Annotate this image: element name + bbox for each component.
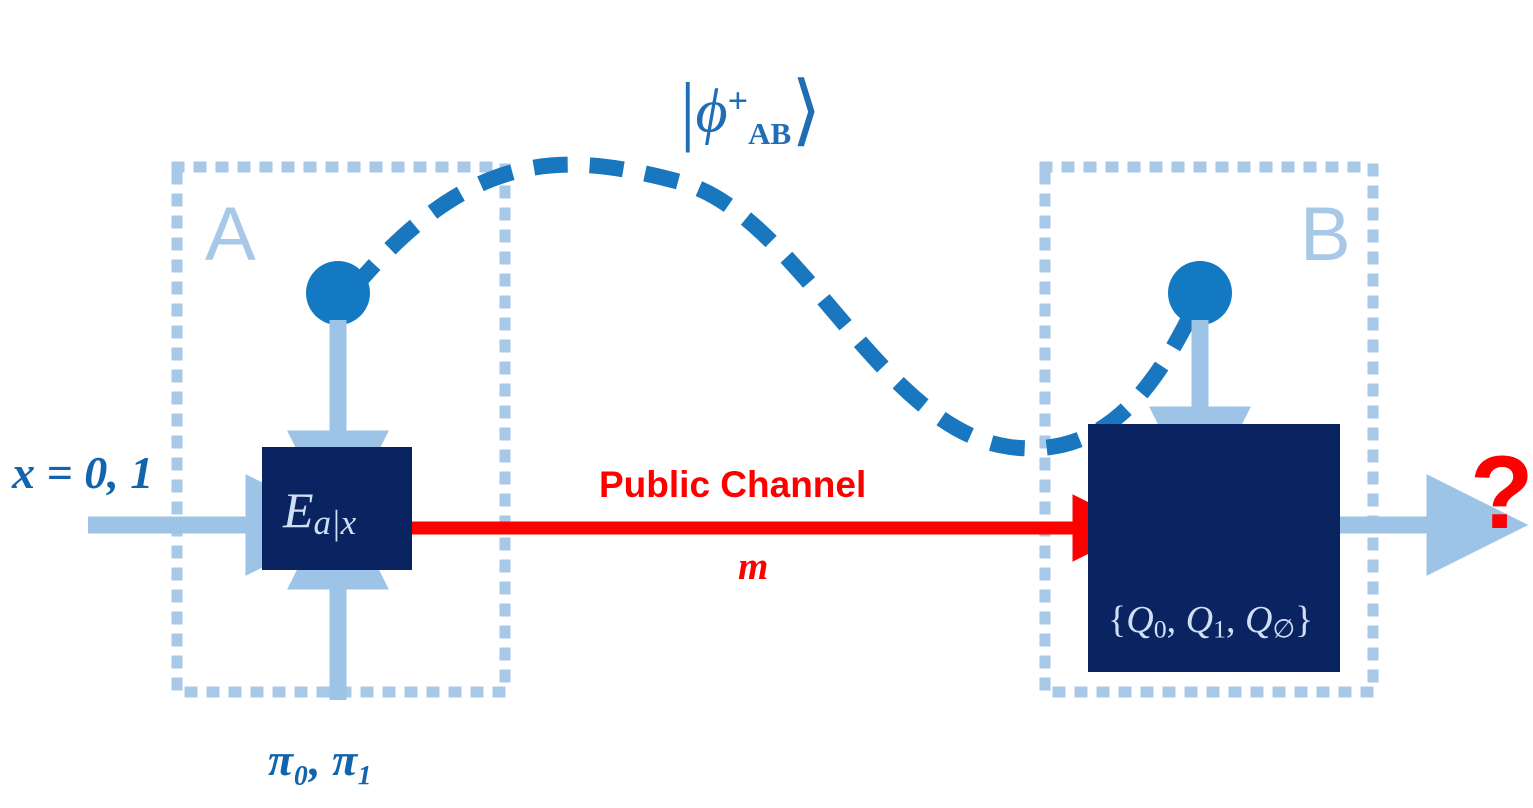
ket-close-bracket: ⟩ — [791, 67, 821, 153]
alice-encoding-label: Ea|x — [283, 485, 356, 540]
prior-distribution-label: π₀, π₁ — [268, 737, 373, 783]
entanglement-curve — [352, 165, 1198, 449]
ket-superscript: + — [728, 81, 749, 121]
bob-qubit-node — [1168, 261, 1232, 325]
encoding-subscript: a|x — [314, 503, 357, 542]
povm-item-1: Q — [1186, 599, 1213, 641]
public-channel-title: Public Channel — [599, 466, 866, 503]
povm-item-2: Q — [1245, 599, 1272, 641]
channel-message-label: m — [738, 547, 768, 586]
bob-povm-label: {{Q₀, Q₁, Q∅}Q0, Q1, Q∅} — [1108, 601, 1313, 643]
povm-open-brace: { — [1108, 599, 1126, 641]
ket-bar: | — [680, 67, 696, 153]
region-b-label: B — [1300, 197, 1351, 273]
povm-item-0: Q — [1126, 599, 1153, 641]
input-x-full: x = 0, 1 — [12, 447, 153, 498]
alice-qubit-node — [306, 261, 370, 325]
unknown-output-label: ? — [1470, 441, 1533, 545]
region-a-label: A — [205, 197, 256, 273]
input-x-label: x = 0, 1 — [12, 450, 153, 496]
prior-pi-full: π₀, π₁ — [268, 734, 373, 785]
ket-subscript: AB — [748, 116, 791, 151]
encoding-E: E — [283, 482, 314, 538]
diagram-canvas: A B |ϕ+AB⟩ x = 0, 1 π₀, π₁ Ea|x Public C… — [0, 0, 1533, 808]
entangled-state-ket-label: |ϕ+AB⟩ — [680, 72, 821, 150]
ket-phi-symbol: ϕ — [696, 77, 728, 145]
povm-close-brace: } — [1295, 599, 1313, 641]
